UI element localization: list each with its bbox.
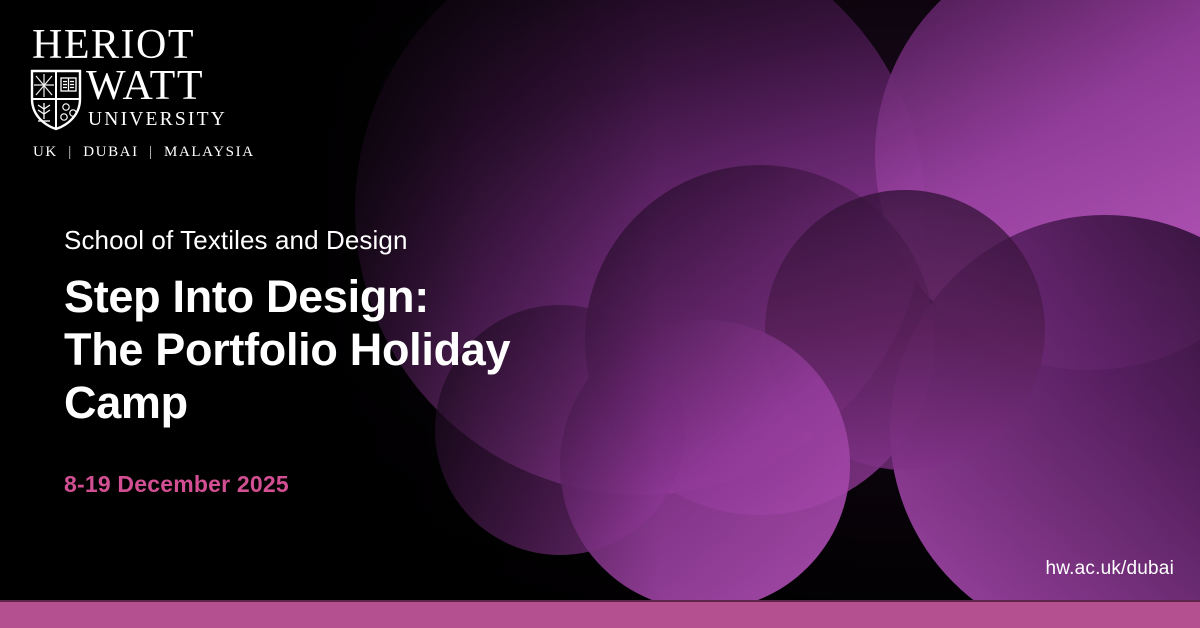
event-banner: HERIOT [0, 0, 1200, 628]
headline-line-2: The Portfolio Holiday [64, 323, 704, 376]
logo-line-heriot: HERIOT [30, 24, 245, 66]
logo-line-university: UNIVERSITY [88, 110, 227, 130]
headline-line-3: Camp [64, 376, 704, 429]
banner-content: School of Textiles and Design Step Into … [64, 225, 704, 498]
logo-line-watt: WATT [86, 65, 204, 107]
event-date: 8-19 December 2025 [64, 471, 704, 498]
bottom-accent-bar [0, 602, 1200, 628]
logo-separator-1: | [63, 144, 78, 160]
logo-separator-2: | [144, 144, 159, 160]
logo-country-uk: UK [33, 144, 58, 160]
heriot-watt-logo: HERIOT [30, 24, 245, 161]
logo-wordmark: HERIOT [30, 24, 245, 131]
school-name: School of Textiles and Design [64, 225, 704, 256]
page-title: Step Into Design: The Portfolio Holiday … [64, 270, 704, 429]
heriot-watt-crest-icon [30, 69, 82, 131]
website-url[interactable]: hw.ac.uk/dubai [1046, 558, 1175, 580]
logo-countries: UK | DUBAI | MALAYSIA [30, 144, 245, 161]
headline-line-1: Step Into Design: [64, 270, 704, 323]
logo-country-malaysia: MALAYSIA [164, 144, 255, 160]
logo-country-dubai: DUBAI [83, 144, 139, 160]
